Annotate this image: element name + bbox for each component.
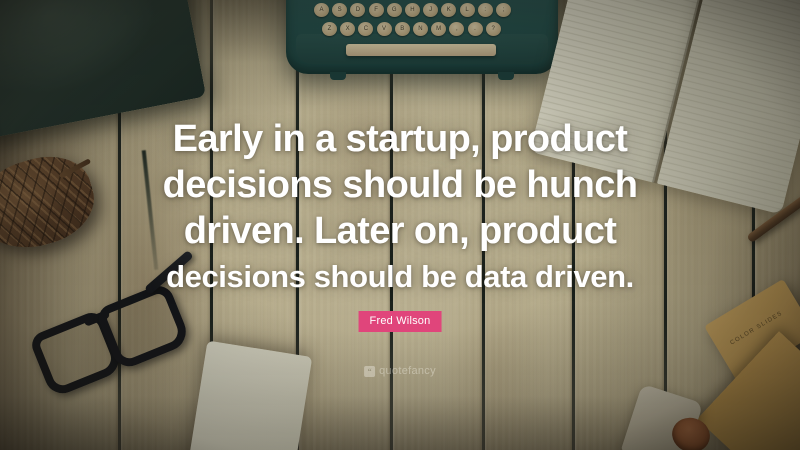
typewriter-spacebar — [346, 44, 496, 56]
typewriter-key-row: ASDFGHJKL:; — [314, 3, 511, 17]
quote-poster: QWERTYUIOP ASDFGHJKL:; ZXCVBNM,.? COLOR … — [0, 0, 800, 450]
typewriter-key: A — [314, 3, 329, 17]
typewriter-key: S — [332, 3, 347, 17]
typewriter-foot — [498, 72, 514, 80]
typewriter-key: , — [449, 22, 464, 36]
typewriter-key: K — [441, 3, 456, 17]
typewriter-key: F — [369, 3, 384, 17]
typewriter-key: Z — [322, 22, 337, 36]
typewriter-key: : — [478, 3, 493, 17]
typewriter-key: ; — [496, 3, 511, 17]
typewriter-key: B — [395, 22, 410, 36]
paper-card — [186, 341, 313, 450]
typewriter-key: M — [431, 22, 446, 36]
typewriter-keyboard: QWERTYUIOP ASDFGHJKL:; ZXCVBNM,.? — [300, 0, 544, 42]
watermark-brand-text: quotefancy — [379, 365, 436, 377]
typewriter-key: L — [460, 3, 475, 17]
typewriter-key: X — [340, 22, 355, 36]
watermark: “ quotefancy — [364, 365, 436, 377]
typewriter-key-row: ZXCVBNM,.? — [322, 22, 501, 36]
book-spine-shadow — [0, 0, 4, 141]
typewriter-key: V — [377, 22, 392, 36]
typewriter-key: D — [350, 3, 365, 17]
author-badge: Fred Wilson — [359, 311, 442, 332]
vintage-typewriter: QWERTYUIOP ASDFGHJKL:; ZXCVBNM,.? — [286, 0, 558, 74]
typewriter-key: ? — [486, 22, 501, 36]
typewriter-key: . — [468, 22, 483, 36]
quotefancy-logo-icon: “ — [364, 366, 375, 377]
typewriter-key: N — [413, 22, 428, 36]
typewriter-foot — [330, 72, 346, 80]
typewriter-key: H — [405, 3, 420, 17]
typewriter-key: C — [358, 22, 373, 36]
typewriter-key: G — [387, 3, 402, 17]
typewriter-key: J — [423, 3, 438, 17]
